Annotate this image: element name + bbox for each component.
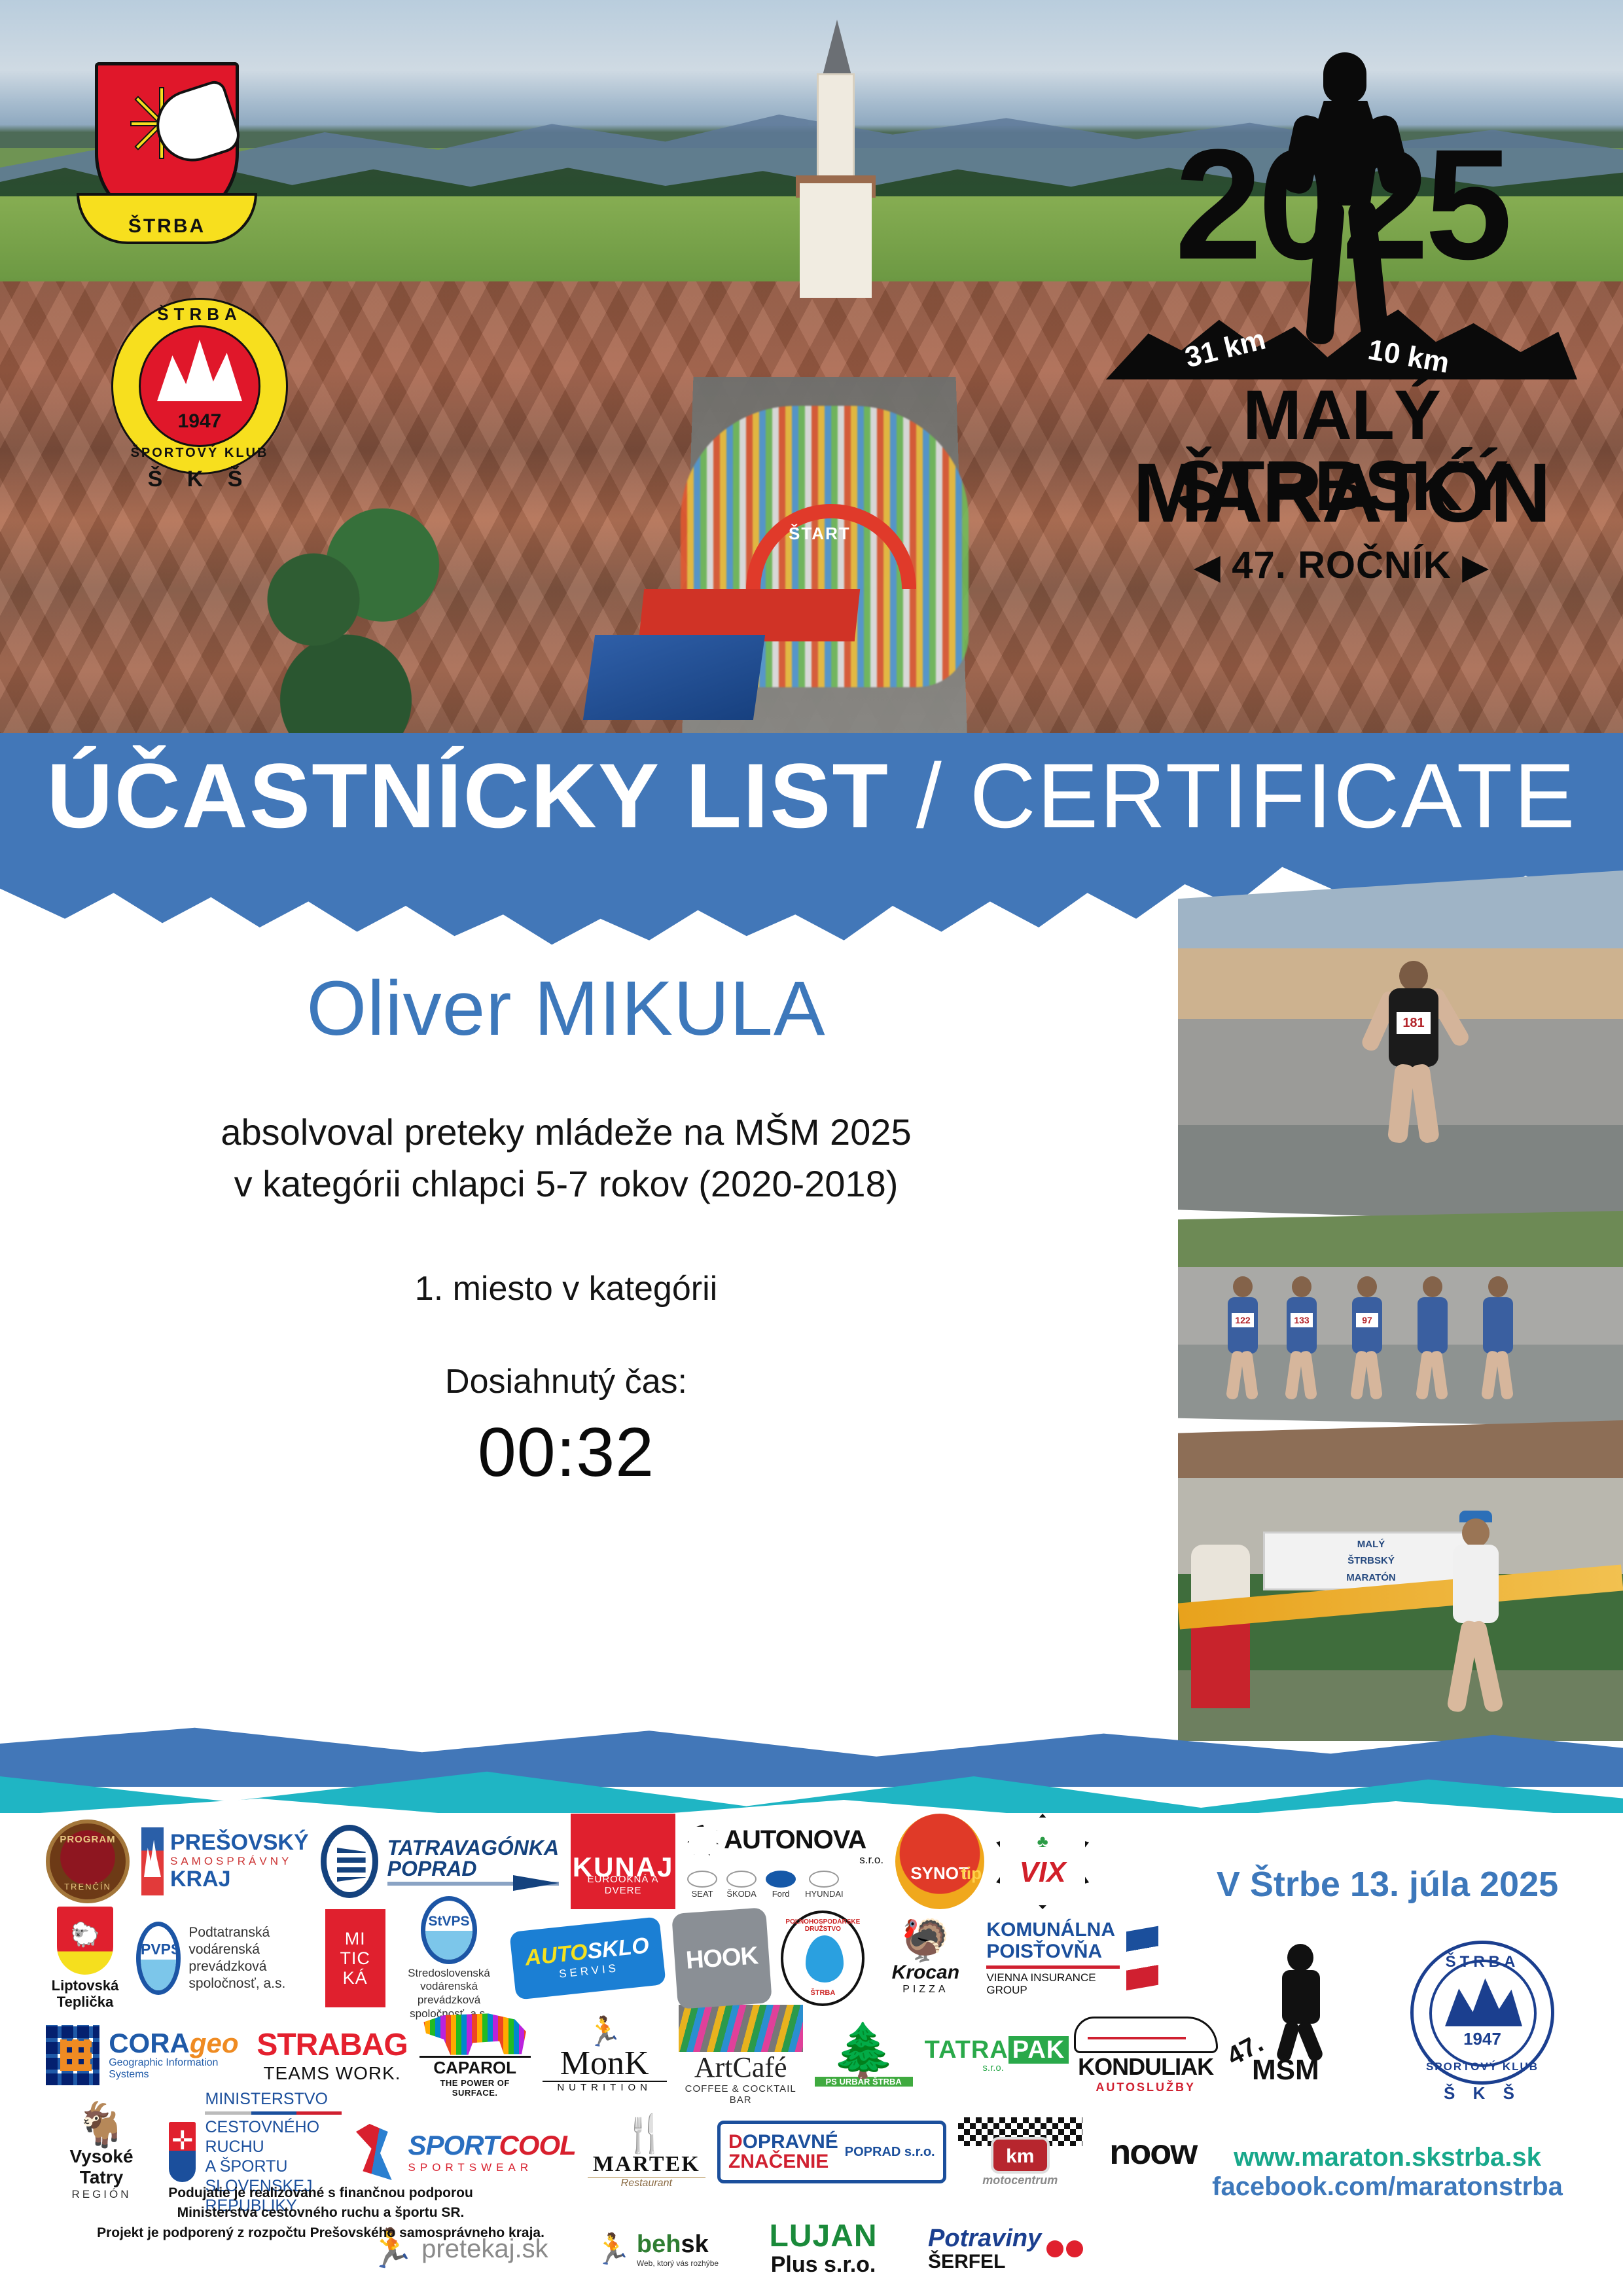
funding-line-1: Podujatie je realizované s finančnou pod… — [59, 2183, 582, 2203]
slovak-crest-icon — [169, 2122, 196, 2182]
sponsor-artcafe: ArtCafé COFFEE & COCKTAIL BAR — [679, 2005, 803, 2106]
funding-line-2: Ministerstva cestovného ruchu a športu S… — [59, 2203, 582, 2223]
certificate-page: ŠTART ✶✶✶ ŠTRBA ŠTRBA 1947 ŠPORTOVÝ KLUB… — [0, 0, 1623, 2296]
sponsor-strabag: STRABAG TEAMS WORK. — [257, 2027, 407, 2084]
facebook-link[interactable]: facebook.com/maratonstrba — [1178, 2172, 1597, 2202]
sponsor-stvps: StVPS Stredoslovenská vodárenská prevádz… — [397, 1896, 501, 2021]
brand-hyundai: HYUNDAI — [805, 1871, 844, 1899]
club-top-text: ŠTRBA — [111, 304, 288, 325]
sponsor-lujan-plus: LUJAN Plus s.r.o. — [764, 2221, 882, 2278]
sponsor-pd-strba: POĽNOHOSPODÁRSKE DRUŽSTVO ŠTRBA — [781, 1910, 865, 2006]
beh-runner-icon: 🏃 — [594, 2231, 632, 2267]
caparol-elephant-icon — [419, 2013, 531, 2056]
serfel-dots-icon — [1046, 2240, 1083, 2257]
liptovska-crest-icon — [57, 1907, 113, 1975]
sponsor-liptovska-teplicka: Liptovská Teplička — [46, 1907, 124, 2011]
sponsor-ps-urbar-strba: 🌲 PS URBÁR ŠTRBA — [815, 2024, 913, 2087]
sponsor-martek-restaurant: 🍴 MARTEK Restaurant — [588, 2115, 705, 2189]
trees — [249, 484, 465, 772]
placement-text: 1. miesto v kategórii — [0, 1269, 1132, 1308]
page-title: ÚČASTNÍCKY LIST / CERTIFICATE — [0, 750, 1623, 842]
club-abbreviation: Š K Š — [111, 467, 288, 492]
photo-collage: 181 122 133 97 MALÝ ŠTRBSKÝ MARATÓN — [1139, 870, 1623, 1748]
sponsor-program-trencin: PROGRAM TRENČÍN — [46, 1820, 130, 1903]
sponsor-beh-sk: 🏃 behsk Web, ktorý vás rozhýbe — [594, 2231, 719, 2268]
sponsor-autosklo-servis: AUTOSKLO SERVIS — [510, 1916, 667, 2000]
title-normal: CERTIFICATE — [970, 744, 1577, 847]
date-place: V Štrbe 13. júla 2025 — [1178, 1864, 1597, 1905]
description-line-2: v kategórii chlapci 5-7 rokov (2020-2018… — [0, 1158, 1132, 1210]
sponsor-komunalna-poistovna: KOMUNÁLNA POISŤOVŇA VIENNA INSURANCE GRO… — [986, 1920, 1158, 1996]
title-separator: / — [889, 744, 970, 847]
brand-ford: Ford — [766, 1871, 796, 1899]
brand-skoda: ŠKODA — [726, 1871, 757, 1899]
msm-stamp-icon: 47. MŠM — [1221, 1937, 1371, 2088]
bib-number-c: 97 — [1356, 1313, 1378, 1327]
footer-links: www.maraton.skstrba.sk facebook.com/mara… — [1178, 2143, 1597, 2202]
sponsor-tatrapak: TATRAPAK s.r.o. — [925, 2037, 1062, 2073]
time-value: 00:32 — [0, 1413, 1132, 1492]
sks-stamp-icon: ŠTRBA 1947 ŠPORTOVÝ KLUB Š K Š — [1410, 1941, 1554, 2085]
monk-figure-icon: 🏃 — [543, 2018, 667, 2047]
funding-note: Podujatie je realizované s finančnou pod… — [59, 2183, 582, 2243]
komunalna-flag-icon — [1126, 1926, 1158, 1991]
water-drop-icon — [806, 1935, 844, 1982]
sponsor-miticka: MI TIC KÁ — [325, 1909, 385, 2007]
photo-female-runner: 181 — [1178, 870, 1623, 1224]
cutlery-icon: 🍴 — [588, 2115, 705, 2152]
sponsor-potraviny-serfel: Potraviny ŠERFEL — [928, 2226, 1079, 2272]
sponsor-km-motocentrum: km motocentrum — [958, 2117, 1082, 2187]
sponsor-presovsky-kraj: PREŠOVSKÝ SAMOSPRÁVNY KRAJ — [141, 1827, 309, 1895]
participant-name: Oliver MIKULA — [0, 969, 1132, 1050]
event-title-line2: MARATÓN — [1099, 452, 1584, 535]
presovsky-flag-icon — [141, 1827, 164, 1895]
red-tent — [639, 589, 860, 641]
sks-stamp-abbr: Š K Š — [1414, 2083, 1551, 2104]
bib-number-b: 133 — [1291, 1313, 1313, 1327]
bib-number-main: 181 — [1397, 1012, 1431, 1034]
strba-coat-of-arms-icon: ✶✶✶ ŠTRBA — [95, 62, 239, 259]
brand-seat: SEAT — [687, 1871, 717, 1899]
arrow-left-icon: ◀ — [1195, 548, 1221, 585]
sponsor-pvps: PVPS Podtatranská vodárenská prevádzková… — [136, 1922, 313, 1995]
sponsor-synottip: SYNOT tip — [895, 1814, 984, 1909]
club-founding-year: 1947 — [111, 410, 288, 433]
sponsor-vix: ♣ VIX — [996, 1814, 1089, 1909]
clover-icon: ♣ — [1000, 1831, 1085, 1852]
runner-silhouette-icon — [1289, 52, 1400, 347]
crest-label: ŠTRBA — [128, 215, 205, 242]
church-icon — [800, 20, 872, 295]
time-label: Dosiahnutý čas: — [0, 1362, 1132, 1401]
blue-tent — [583, 635, 765, 720]
sponsor-corageo: CORAgeo Geographic Information Systems — [46, 2025, 245, 2085]
corageo-grid-icon — [46, 2025, 99, 2085]
title-bold: ÚČASTNÍCKY LIST — [46, 744, 889, 847]
sponsor-hook: HOOK — [671, 1907, 772, 2009]
photo-finish-line: MALÝ ŠTRBSKÝ MARATÓN — [1178, 1420, 1623, 1741]
artcafe-bars-icon — [679, 2005, 803, 2052]
start-label: ŠTART — [789, 524, 851, 544]
sponsor-autonova: AUTONOVA s.r.o. SEAT ŠKODA Ford HYUNDAI — [687, 1825, 883, 1899]
tatravagonka-oval-icon — [321, 1825, 378, 1898]
arrow-right-icon: ▶ — [1463, 548, 1488, 585]
sponsor-tatravagonka: TATRAVAGÓNKA POPRAD — [321, 1825, 559, 1898]
sks-stamp-bottom: ŠPORTOVÝ KLUB — [1414, 2060, 1551, 2073]
website-link[interactable]: www.maraton.skstrba.sk — [1178, 2143, 1597, 2172]
funding-line-3: Projekt je podporený z rozpočtu Prešovsk… — [59, 2223, 582, 2243]
description-line-1: absolvoval preteky mládeže na MŠM 2025 — [0, 1106, 1132, 1158]
bib-number-a: 122 — [1232, 1313, 1254, 1327]
tree-icon: 🌲 — [815, 2024, 913, 2077]
footer-right-column: V Štrbe 13. júla 2025 47. MŠM ŠTRBA 1947… — [1178, 1820, 1597, 2202]
msm-abbr: MŠM — [1252, 2054, 1319, 2087]
sponsor-row: PROGRAM TRENČÍN PREŠOVSKÝ SAMOSPRÁVNY KR… — [46, 1813, 1158, 1910]
sponsors-section: PROGRAM TRENČÍN PREŠOVSKÝ SAMOSPRÁVNY KR… — [0, 1813, 1623, 2296]
event-logo: 2025 31 km 10 km MALÝ ŠTRBSKÝ MARATÓN ◀ … — [1099, 46, 1584, 622]
sponsor-kunaj: KUNAJ EUROOKNÁ A DVERE — [571, 1814, 675, 1909]
photo-runner-group: 122 133 97 — [1178, 1211, 1623, 1427]
event-edition-label: 47. ROČNÍK — [1232, 544, 1452, 586]
sport-club-logo: ŠTRBA 1947 ŠPORTOVÝ KLUB Š K Š — [111, 298, 288, 481]
autonova-star-icon — [687, 1825, 719, 1856]
sponsor-dopravne-znacenie-poprad: DOPRAVNÉ ZNAČENIE POPRAD s.r.o. — [717, 2121, 946, 2183]
certificate-description: absolvoval preteky mládeže na MŠM 2025 v… — [0, 1106, 1132, 1210]
event-edition: ◀ 47. ROČNÍK ▶ — [1099, 543, 1584, 587]
sponsor-monk-nutrition: 🏃 MonK NUTRITION — [543, 2018, 667, 2093]
sponsor-krocan-pizza: 🦃 Krocan PIZZA — [876, 1921, 974, 1996]
club-bottom-text: ŠPORTOVÝ KLUB — [111, 446, 288, 461]
sponsor-caparol: CAPAROL THE POWER OF SURFACE. — [419, 2013, 531, 2098]
turkey-icon: 🦃 — [876, 1921, 974, 1962]
official-marks: 47. MŠM ŠTRBA 1947 ŠPORTOVÝ KLUB Š K Š — [1178, 1937, 1597, 2088]
sponsor-row: Liptovská Teplička PVPS Podtatranská vod… — [46, 1910, 1158, 2007]
sportcool-swoosh-icon — [353, 2124, 402, 2180]
sks-stamp-top: ŠTRBA — [1414, 1953, 1551, 1971]
certificate-body: Oliver MIKULA absolvoval preteky mládeže… — [0, 969, 1132, 1492]
sks-stamp-year: 1947 — [1414, 2029, 1551, 2049]
chamois-icon: 🐐 — [46, 2103, 157, 2146]
sponsor-sportcool: SPORTCOOL SPORTSWEAR — [353, 2124, 576, 2180]
